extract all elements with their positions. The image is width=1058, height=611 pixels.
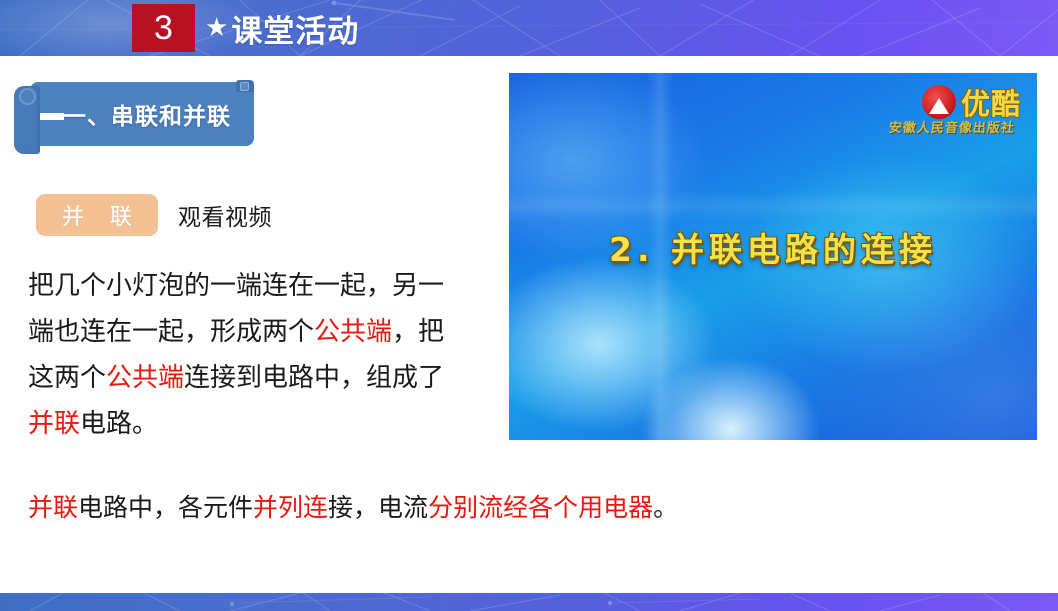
section-number-badge: 3: [132, 4, 195, 52]
topic-row: 并 联 观看视频: [36, 194, 272, 236]
publisher-watermark: 安徽人民音像出版社: [888, 117, 1016, 136]
star-icon: ★: [205, 12, 229, 43]
page-title-text: 课堂活动: [231, 6, 359, 51]
summary-highlight-3: 分别流经各个用电器: [428, 494, 653, 522]
paragraph-line-3: 这两个公共端连接到电路中，组成了: [28, 354, 490, 400]
paragraph-line-4: 并联电路。: [28, 400, 490, 446]
line1-text-a: 把几个小灯泡的一端连在一起，另一: [28, 270, 444, 300]
summary-text-1: 电路中，各元件: [78, 494, 253, 522]
definition-paragraph: 把几个小灯泡的一端连在一起，另一 端也连在一起，形成两个公共端，把 这两个公共端…: [28, 262, 490, 446]
line3-text-a: 这两个: [28, 362, 106, 392]
summary-highlight-2: 并列连: [253, 494, 328, 522]
video-thumbnail[interactable]: 优酷 安徽人民音像出版社 2. 并联电路的连接: [509, 73, 1037, 440]
slide-header-bar: 3 ★ 课堂活动: [0, 0, 1058, 56]
watch-video-caption: 观看视频: [178, 198, 272, 232]
summary-highlight-1: 并联: [28, 494, 78, 522]
line2-highlight: 公共端: [314, 316, 392, 346]
summary-text-3: 。: [653, 494, 678, 522]
paragraph-line-2: 端也连在一起，形成两个公共端，把: [28, 308, 490, 354]
line3-highlight: 公共端: [106, 362, 184, 392]
summary-line: 并联电路中，各元件并列连接，电流分别流经各个用电器。: [28, 488, 988, 524]
video-title-overlay: 2. 并联电路的连接: [509, 223, 1037, 271]
line2-text-a: 端也连在一起，形成两个: [28, 316, 314, 346]
footer-line-pattern: [0, 593, 1058, 611]
line4-highlight: 并联: [28, 408, 80, 438]
paragraph-line-1: 把几个小灯泡的一端连在一起，另一: [28, 262, 490, 308]
youku-mark-icon: [922, 85, 956, 119]
line4-text-b: 电路。: [80, 408, 158, 438]
section-banner: 一、串联和并联: [8, 80, 256, 154]
slide-root: 3 ★ 课堂活动 一、串联和并联 并 联 观看视频 把几个小灯泡的一端连在一起，…: [0, 0, 1058, 611]
topic-pill: 并 联: [36, 194, 158, 236]
slide-footer-bar: [0, 593, 1058, 611]
banner-scroll-ring-icon: [19, 88, 36, 105]
section-banner-label: 一、串联和并联: [42, 82, 252, 146]
line3-text-b: 连接到电路中，组成了: [184, 362, 444, 392]
page-title: ★ 课堂活动: [205, 6, 359, 50]
video-light-band-horizontal: [509, 191, 1037, 221]
summary-text-2: 接，电流: [328, 494, 428, 522]
line2-text-b: ，把: [392, 316, 444, 346]
